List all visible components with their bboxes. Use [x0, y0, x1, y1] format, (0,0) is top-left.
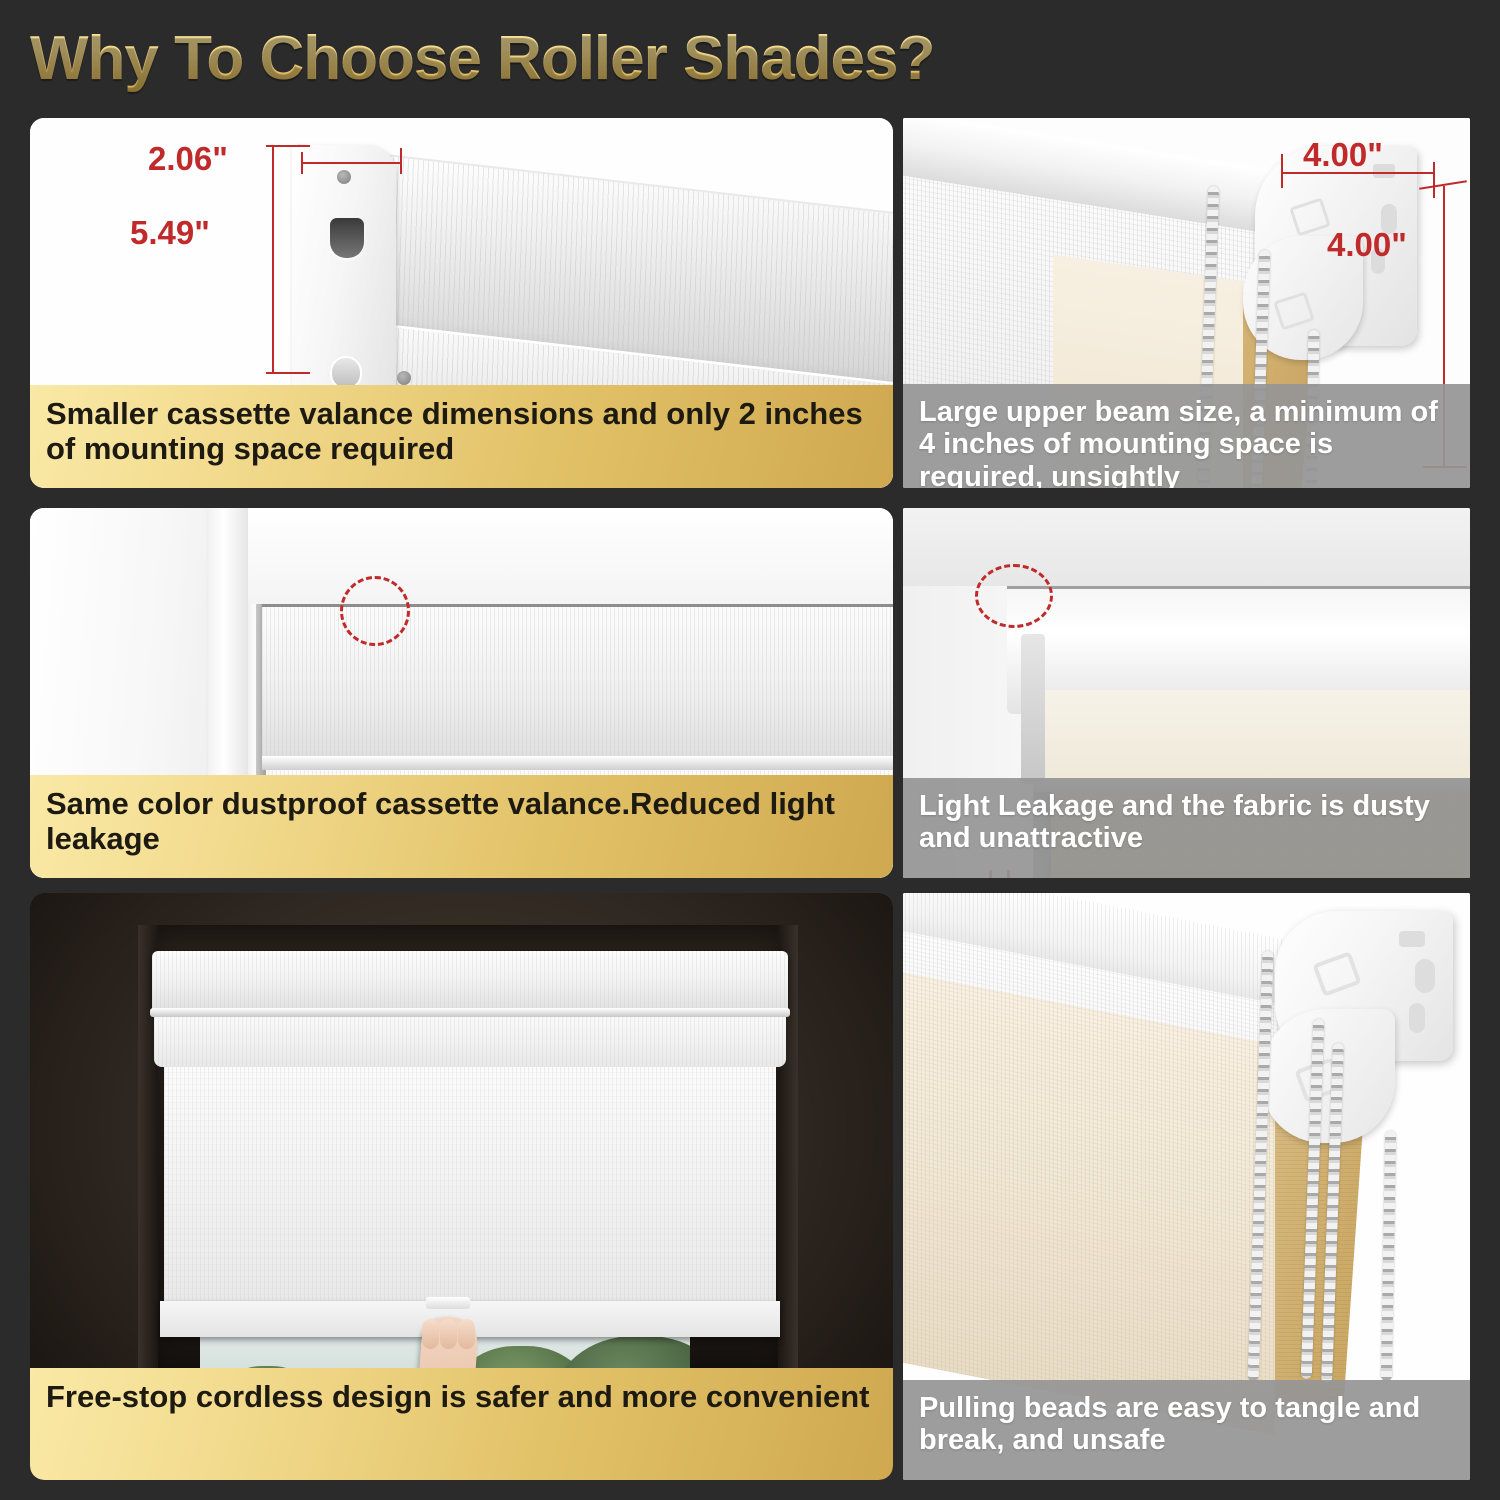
finger: [422, 1319, 439, 1349]
highlight-circle: [340, 576, 410, 646]
panel-caption: Free-stop cordless design is safer and m…: [30, 1368, 893, 1480]
window-header: [248, 508, 893, 604]
height-dimension-label: 5.49": [130, 214, 210, 252]
panel-caption: Smaller cassette valance dimensions and …: [30, 385, 893, 488]
finger: [458, 1319, 475, 1349]
panel-dustproof-valance: ▸ ◂ smaller gap Same color dustproof cas…: [30, 508, 893, 878]
width-dimension-tick-right: [400, 148, 402, 174]
finger: [440, 1319, 457, 1349]
bracket-notch-icon: [1409, 1003, 1425, 1033]
pull-handle: [426, 1297, 470, 1309]
screw-icon: [337, 170, 351, 184]
beam-band: [1039, 690, 1470, 778]
valance-lip: [150, 1008, 790, 1017]
comparison-grid: 2.06" 5.49" Smaller cassette valance dim…: [0, 0, 1500, 1500]
height-dimension-line: [272, 146, 274, 374]
screw-icon: [397, 371, 411, 385]
bracket-slot-icon: [330, 218, 364, 258]
highlight-circle: [975, 564, 1053, 628]
width-dimension-tick-left: [1281, 154, 1283, 188]
valance-lip: [262, 756, 893, 770]
panel-smaller-cassette: 2.06" 5.49" Smaller cassette valance dim…: [30, 118, 893, 488]
height-dimension-tick-top: [266, 145, 310, 147]
width-dimension-tick-left: [301, 152, 303, 174]
width-dimension-label: 2.06": [148, 140, 228, 178]
height-dimension-tick-bottom: [266, 372, 310, 374]
cassette-valance: [152, 951, 788, 1013]
panel-caption: Pulling beads are easy to tangle and bre…: [903, 1380, 1470, 1480]
panel-light-leakage: ▸ ◂ Large gap Light Leakage and the fabr…: [903, 508, 1470, 878]
panel-caption: Same color dustproof cassette valance.Re…: [30, 775, 893, 878]
bracket-notch-icon: [1415, 959, 1435, 993]
width-dimension-tick-right: [1433, 162, 1435, 198]
valance-lower: [154, 1017, 786, 1067]
panel-caption: Light Leakage and the fabric is dusty an…: [903, 778, 1470, 878]
panel-cordless-design: Free-stop cordless design is safer and m…: [30, 893, 893, 1480]
bead-chain: [1381, 1131, 1396, 1381]
cream-fabric: [903, 971, 1275, 1435]
side-bracket: [1021, 634, 1045, 784]
panel-pulling-beads: Pulling beads are easy to tangle and bre…: [903, 893, 1470, 1480]
panel-caption: Large upper beam size, a minimum of 4 in…: [903, 384, 1470, 488]
width-dimension-label: 4.00": [1303, 136, 1383, 174]
bracket-notch-icon: [1399, 931, 1425, 947]
panel-large-upper-beam: 4.00" 4.00" Large upper beam size, a min…: [903, 118, 1470, 488]
shade-fabric: [164, 1067, 776, 1307]
width-dimension-line: [302, 162, 402, 164]
height-dimension-label: 4.00": [1327, 226, 1407, 264]
